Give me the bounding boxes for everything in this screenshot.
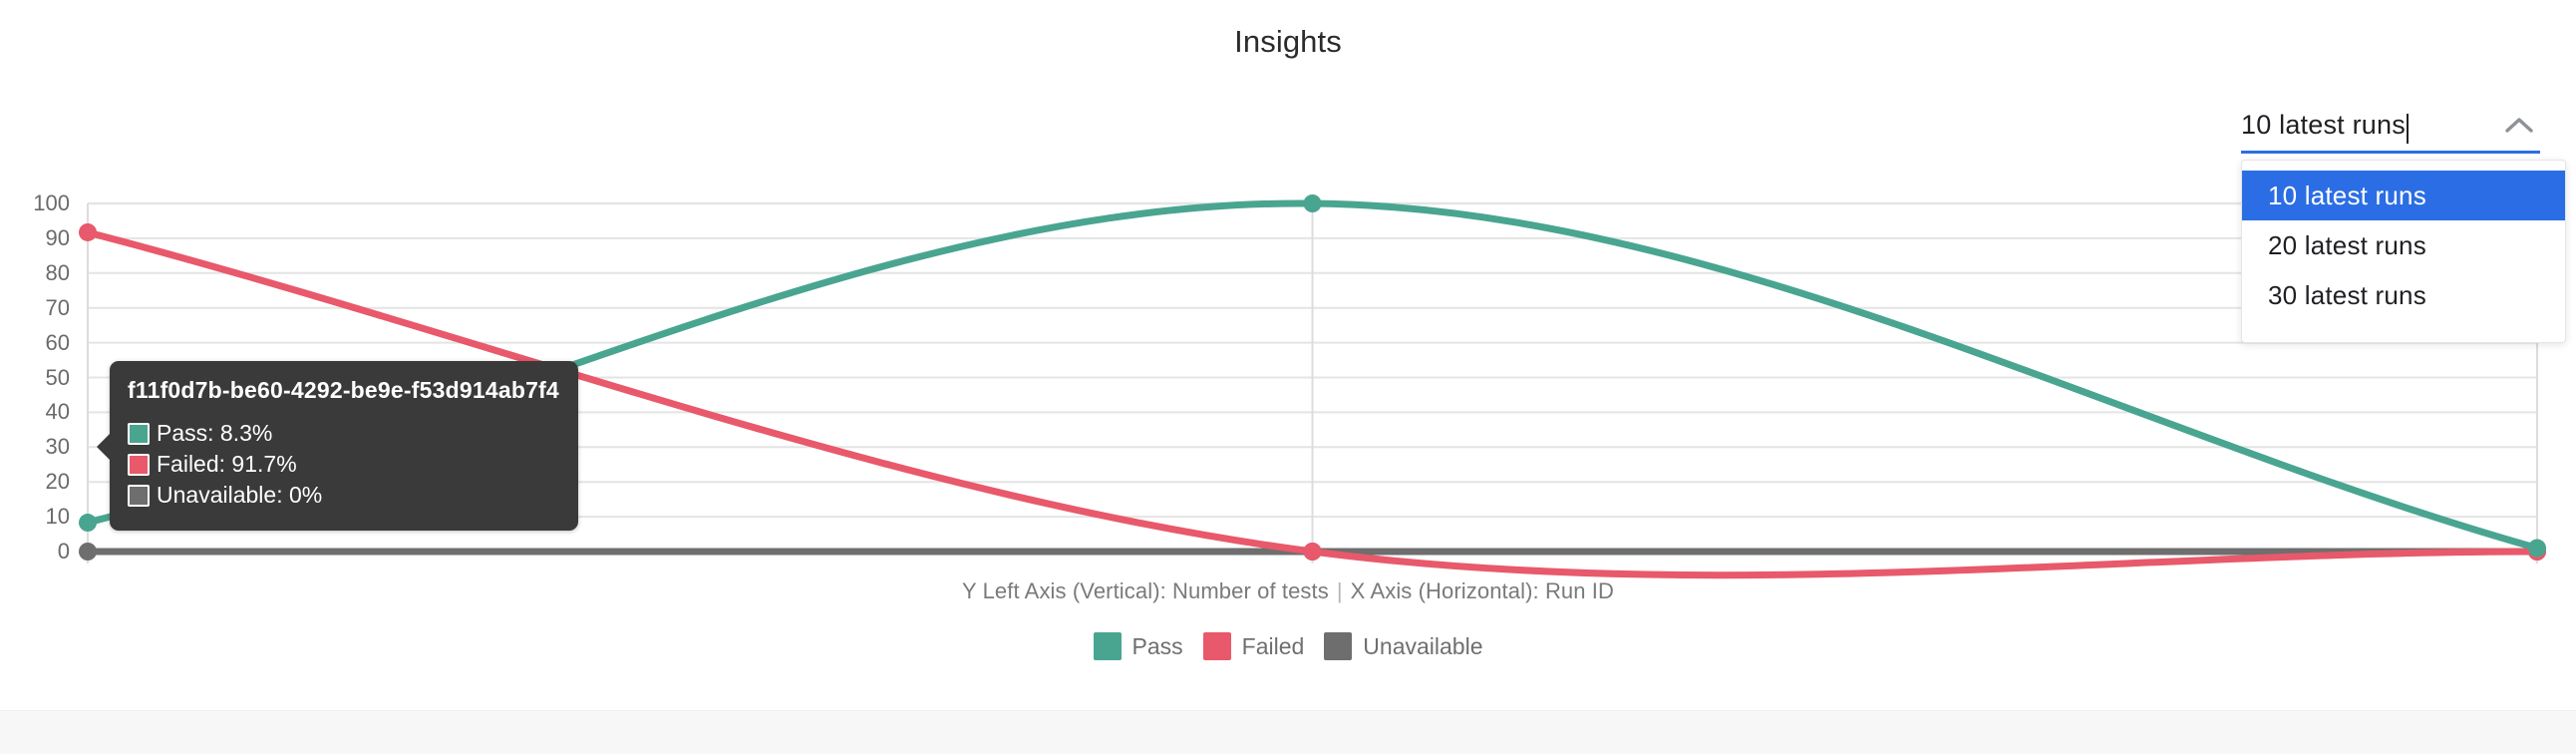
run-count-selector: 10 latest runs 10 latest runs20 latest r… bbox=[2241, 100, 2540, 154]
chart-tooltip: f11f0d7b-be60-4292-be9e-f53d914ab7f4 Pas… bbox=[110, 361, 578, 531]
y-tick-label: 50 bbox=[8, 365, 70, 391]
y-tick-label: 40 bbox=[8, 399, 70, 425]
y-tick-label: 30 bbox=[8, 434, 70, 460]
chart-legend: PassFailedUnavailable bbox=[0, 632, 2576, 660]
y-tick-label: 70 bbox=[8, 295, 70, 321]
data-point-failed[interactable] bbox=[1304, 543, 1322, 561]
tooltip-row: Failed: 91.7% bbox=[128, 451, 560, 478]
select-field[interactable]: 10 latest runs bbox=[2241, 100, 2540, 154]
select-option-2[interactable]: 20 latest runs bbox=[2242, 220, 2565, 270]
legend-swatch-icon bbox=[1203, 632, 1231, 660]
tooltip-row-label: Pass: 8.3% bbox=[157, 420, 272, 447]
tooltip-row: Unavailable: 0% bbox=[128, 482, 560, 509]
x-axis-caption: X Axis (Horizontal): Run ID bbox=[1351, 578, 1614, 603]
y-axis-caption: Y Left Axis (Vertical): Number of tests bbox=[962, 578, 1329, 603]
caption-separator: | bbox=[1329, 578, 1351, 603]
legend-label: Unavailable bbox=[1363, 633, 1482, 660]
tooltip-rows: Pass: 8.3%Failed: 91.7%Unavailable: 0% bbox=[128, 420, 560, 509]
legend-label: Failed bbox=[1242, 633, 1305, 660]
select-dropdown-menu[interactable]: 10 latest runs20 latest runs30 latest ru… bbox=[2241, 160, 2566, 343]
y-tick-label: 60 bbox=[8, 330, 70, 356]
text-cursor bbox=[2407, 114, 2409, 144]
tooltip-swatch-icon bbox=[128, 423, 150, 445]
y-tick-label: 90 bbox=[8, 225, 70, 251]
tooltip-title: f11f0d7b-be60-4292-be9e-f53d914ab7f4 bbox=[128, 377, 560, 404]
y-tick-label: 10 bbox=[8, 504, 70, 530]
insights-card: Insights 1009080706050403020100 f11f0d7b… bbox=[0, 0, 2576, 710]
y-tick-label: 80 bbox=[8, 260, 70, 286]
tooltip-row-label: Unavailable: 0% bbox=[157, 482, 322, 509]
y-tick-label: 100 bbox=[8, 190, 70, 216]
data-point-pass[interactable] bbox=[1304, 194, 1322, 212]
y-tick-label: 20 bbox=[8, 469, 70, 495]
y-tick-label: 0 bbox=[8, 539, 70, 565]
insights-page: Insights 1009080706050403020100 f11f0d7b… bbox=[0, 0, 2576, 754]
data-point-pass[interactable] bbox=[2528, 540, 2546, 558]
tooltip-row: Pass: 8.3% bbox=[128, 420, 560, 447]
tooltip-swatch-icon bbox=[128, 454, 150, 476]
axis-caption: Y Left Axis (Vertical): Number of tests|… bbox=[0, 578, 2576, 604]
tooltip-swatch-icon bbox=[128, 485, 150, 507]
legend-item[interactable]: Failed bbox=[1203, 632, 1305, 660]
select-option-3[interactable]: 30 latest runs bbox=[2242, 270, 2565, 320]
legend-label: Pass bbox=[1132, 633, 1183, 660]
tooltip-row-label: Failed: 91.7% bbox=[157, 451, 297, 478]
data-point-failed[interactable] bbox=[79, 223, 97, 241]
select-option-1[interactable]: 10 latest runs bbox=[2242, 171, 2565, 220]
select-value: 10 latest runs bbox=[2241, 110, 2406, 141]
data-point-pass[interactable] bbox=[79, 514, 97, 532]
data-point-unavailable[interactable] bbox=[79, 543, 97, 561]
card-footer bbox=[0, 710, 2576, 754]
legend-item[interactable]: Unavailable bbox=[1324, 632, 1482, 660]
chevron-up-icon[interactable] bbox=[2504, 111, 2534, 141]
legend-item[interactable]: Pass bbox=[1094, 632, 1183, 660]
legend-swatch-icon bbox=[1094, 632, 1122, 660]
legend-swatch-icon bbox=[1324, 632, 1352, 660]
